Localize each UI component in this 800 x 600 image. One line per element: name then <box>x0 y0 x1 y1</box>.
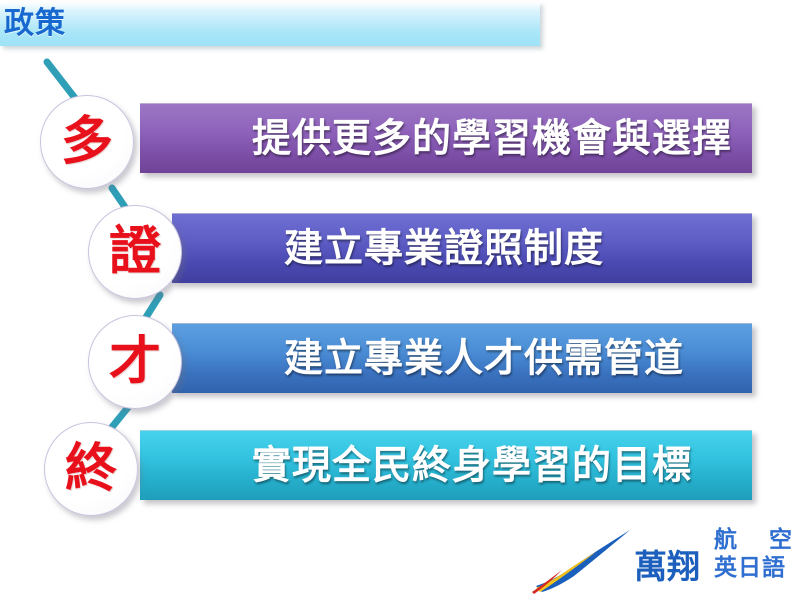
policy-bar[interactable]: 實現全民終身學習的目標 <box>140 430 752 500</box>
policy-row: 提供更多的學習機會與選擇 多 <box>0 95 800 195</box>
policy-bar-label: 實現全民終身學習的目標 <box>252 446 692 485</box>
policy-bar-label: 建立專業證照制度 <box>284 229 604 268</box>
policy-marker-circle[interactable]: 終 <box>44 422 138 516</box>
policy-bar-label: 提供更多的學習機會與選擇 <box>252 119 732 158</box>
logo-sub-line-1: 航 空 <box>714 528 800 553</box>
wanxiang-logo: 萬翔 航 空 英日語 <box>524 524 800 598</box>
policy-marker-char: 才 <box>109 336 161 388</box>
swoosh-icon <box>524 524 644 596</box>
logo-sub-line-2: 英日語 <box>714 556 800 581</box>
policy-bar[interactable]: 建立專業證照制度 <box>172 213 752 283</box>
policy-bar-label: 建立專業人才供需管道 <box>284 339 684 378</box>
slide-title-bar: 政策 <box>0 2 540 46</box>
policy-marker-circle[interactable]: 才 <box>88 315 182 409</box>
policy-marker-char: 終 <box>65 443 117 495</box>
policy-marker-char: 多 <box>61 116 113 168</box>
logo-main-text: 萬翔 <box>634 550 700 583</box>
policy-row: 建立專業證照制度 證 <box>0 205 800 305</box>
policy-bar[interactable]: 建立專業人才供需管道 <box>172 323 752 393</box>
policy-row: 建立專業人才供需管道 才 <box>0 315 800 415</box>
policy-marker-circle[interactable]: 多 <box>40 95 134 189</box>
policy-marker-circle[interactable]: 證 <box>88 205 182 299</box>
policy-marker-char: 證 <box>109 226 161 278</box>
policy-row: 實現全民終身學習的目標 終 <box>0 422 800 522</box>
logo-sub-text: 航 空 英日語 <box>714 528 800 581</box>
policy-bar[interactable]: 提供更多的學習機會與選擇 <box>140 103 752 173</box>
page-title: 政策 <box>4 5 66 43</box>
